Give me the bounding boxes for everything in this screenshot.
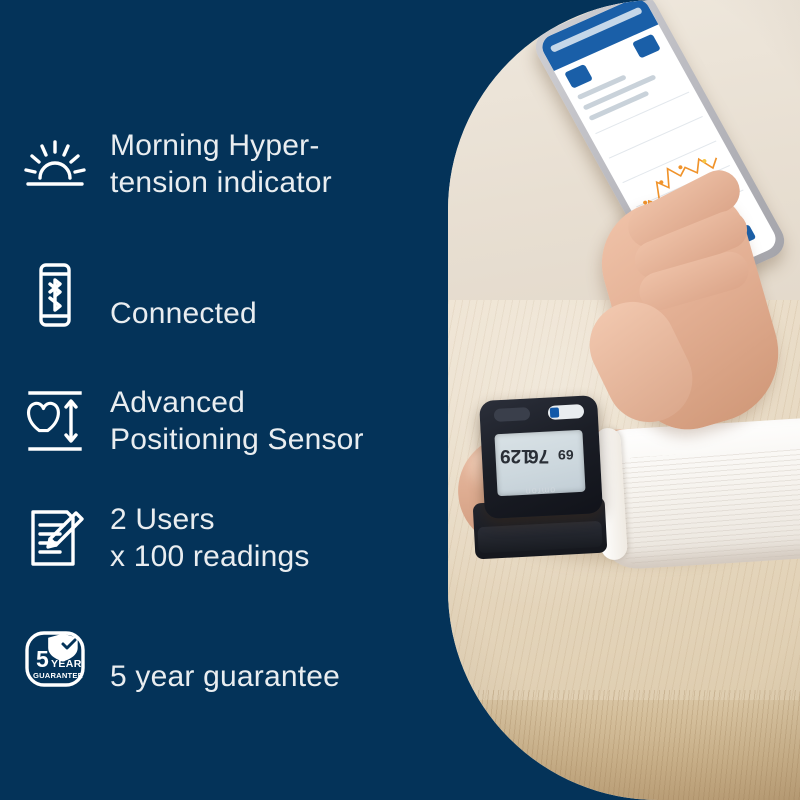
feature-label: 2 Users x 100 readings [110,464,310,612]
feature-label: 5 year guarantee [110,621,340,695]
svg-text:5: 5 [36,646,49,672]
svg-text:YEAR: YEAR [51,658,82,670]
document-pencil-icon [0,507,110,569]
feature-line-1: 5 year guarantee [110,660,340,693]
svg-text:GUARANTEE: GUARANTEE [33,671,83,680]
heart-positioning-icon [0,388,110,454]
feature-line-1: Connected [110,297,257,330]
feature-row-guarantee: 5 YEAR GUARANTEE 5 year guarantee [0,618,448,698]
feature-line-1: 2 Users [110,503,215,536]
sunrise-icon [0,136,110,192]
feature-line-2: Positioning Sensor [110,421,364,458]
feature-line-1: Advanced [110,386,245,419]
feature-label: Morning Hyper- tension indicator [110,90,332,238]
feature-label: Connected [110,258,257,332]
feature-row-connected: Connected [0,255,448,335]
feature-line-1: Morning Hyper- [110,129,320,162]
feature-row-morning-hypertension: Morning Hyper- tension indicator [0,118,448,210]
promo-image: Morning Hyper- tension indicator Connect… [0,0,800,800]
feature-line-2: tension indicator [110,164,332,201]
feature-row-positioning-sensor: Advanced Positioning Sensor [0,375,448,467]
feature-line-2: x 100 readings [110,538,310,575]
phone-bluetooth-icon [0,262,110,328]
product-photo: 129 76 69 omron [448,0,800,800]
feature-row-users-readings: 2 Users x 100 readings [0,492,448,584]
photo-vignette [448,0,800,800]
guarantee-badge-icon: 5 YEAR GUARANTEE [0,625,110,691]
feature-list: Morning Hyper- tension indicator Connect… [0,0,448,800]
